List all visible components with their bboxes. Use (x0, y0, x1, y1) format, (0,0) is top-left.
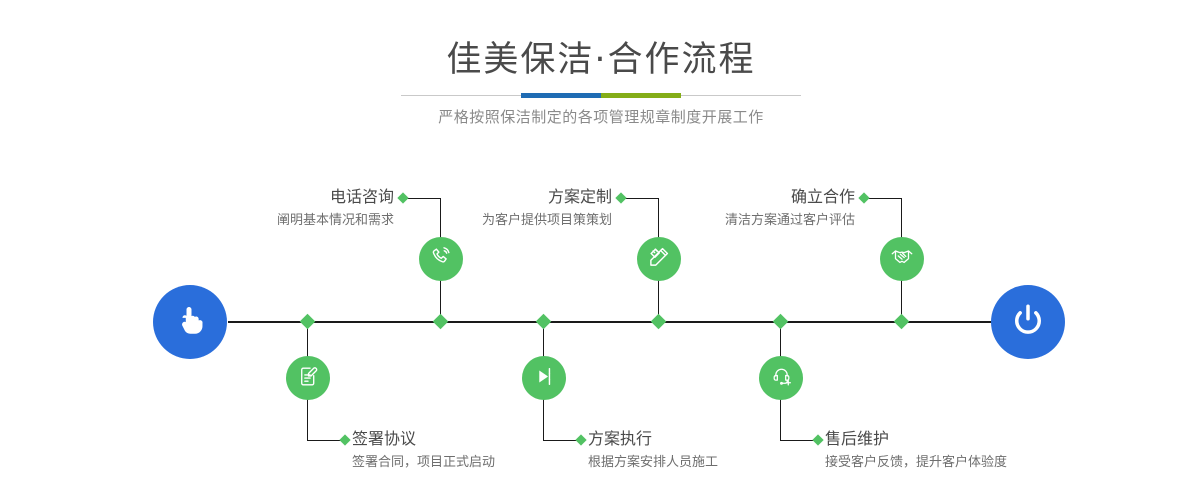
step-5-label-marker (858, 192, 869, 203)
step-1-desc: 阐明基本情况和需求 (179, 210, 394, 231)
handshake-icon (889, 244, 915, 274)
step-5-title: 确立合作 (640, 186, 855, 208)
step-1-label: 电话咨询 阐明基本情况和需求 (179, 186, 394, 231)
step-4-label: 方案执行 根据方案安排人员施工 (588, 428, 718, 473)
step-6-label-marker (812, 434, 823, 445)
headset-support-icon (769, 364, 794, 393)
step-4-label-marker (575, 434, 586, 445)
timeline-axis (228, 321, 998, 323)
step-2-desc: 签署合同，项目正式启动 (352, 452, 495, 473)
step-2-label-marker (339, 434, 350, 445)
step-3-label-marker (615, 192, 626, 203)
timeline: 电话咨询 阐明基本情况和需求 签署协议 签署合同，项目正式启动 (0, 0, 1202, 502)
step-5-icon-node[interactable] (880, 237, 924, 281)
step-3-desc: 为客户提供项目策策划 (397, 210, 612, 231)
step-1-icon-node[interactable] (419, 237, 463, 281)
step-6-axis-diamond (773, 314, 789, 330)
step-3-axis-diamond (651, 314, 667, 330)
play-execute-icon (532, 364, 557, 393)
step-4-axis-diamond (536, 314, 552, 330)
document-edit-icon (296, 364, 321, 393)
step-2-title: 签署协议 (352, 428, 495, 450)
step-1-title: 电话咨询 (179, 186, 394, 208)
step-5-label: 确立合作 清洁方案通过客户评估 (640, 186, 855, 231)
phone-call-icon (428, 244, 454, 274)
step-2-label: 签署协议 签署合同，项目正式启动 (352, 428, 495, 473)
timeline-end-node[interactable] (991, 285, 1065, 359)
step-2-icon-node[interactable] (286, 356, 330, 400)
step-4-title: 方案执行 (588, 428, 718, 450)
step-5-axis-diamond (894, 314, 910, 330)
step-1-axis-diamond (433, 314, 449, 330)
step-6-title: 售后维护 (825, 428, 1007, 450)
timeline-start-node[interactable] (153, 285, 227, 359)
pencil-ruler-icon (646, 244, 672, 274)
step-4-desc: 根据方案安排人员施工 (588, 452, 718, 473)
step-3-label: 方案定制 为客户提供项目策策划 (397, 186, 612, 231)
infographic-page: 佳美保洁·合作流程 严格按照保洁制定的各项管理规章制度开展工作 (0, 0, 1202, 502)
step-2-axis-diamond (300, 314, 316, 330)
step-6-desc: 接受客户反馈，提升客户体验度 (825, 452, 1007, 473)
power-icon (1008, 300, 1048, 344)
step-5-desc: 清洁方案通过客户评估 (640, 210, 855, 231)
step-6-icon-node[interactable] (759, 356, 803, 400)
step-3-title: 方案定制 (397, 186, 612, 208)
step-4-icon-node[interactable] (522, 356, 566, 400)
pointing-hand-icon (170, 300, 210, 344)
step-6-label: 售后维护 接受客户反馈，提升客户体验度 (825, 428, 1007, 473)
step-3-icon-node[interactable] (637, 237, 681, 281)
step-5-connector-horizontal (864, 198, 902, 199)
